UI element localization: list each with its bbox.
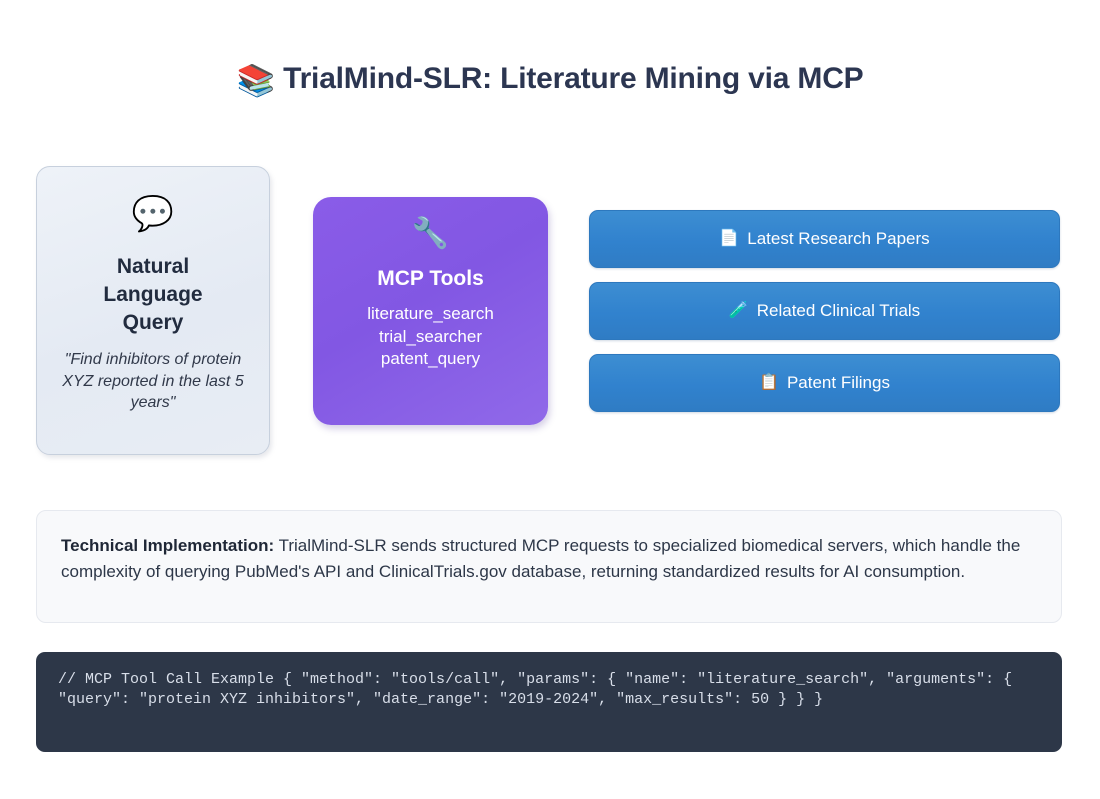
technical-note-text: Technical Implementation: TrialMind-SLR … [61,533,1037,586]
mcp-tool-item: literature_search [367,303,494,326]
technical-note-label: Technical Implementation: [61,536,274,555]
technical-implementation-note: Technical Implementation: TrialMind-SLR … [36,510,1062,623]
document-icon: 📄 [719,231,739,247]
latest-research-papers-label: Latest Research Papers [747,229,929,249]
natural-language-query-card: 💬 Natural Language Query "Find inhibitor… [36,166,270,455]
mcp-tool-item: patent_query [367,348,494,371]
code-block-text: // MCP Tool Call Example { "method": "to… [58,670,1040,711]
page-title: 📚TrialMind-SLR: Literature Mining via MC… [0,62,1100,99]
page-title-text: TrialMind-SLR: Literature Mining via MCP [283,62,863,95]
books-icon: 📚 [237,63,276,98]
mcp-tool-item: trial_searcher [367,326,494,349]
related-clinical-trials-button[interactable]: 🧪 Related Clinical Trials [589,282,1060,340]
speech-balloon-icon: 💬 [132,197,174,239]
related-clinical-trials-label: Related Clinical Trials [757,301,920,321]
flow-row: 💬 Natural Language Query "Find inhibitor… [36,166,1062,458]
code-block: // MCP Tool Call Example { "method": "to… [36,652,1062,752]
patent-filings-label: Patent Filings [787,373,890,393]
infographic-page: 📚TrialMind-SLR: Literature Mining via MC… [0,0,1100,799]
wrench-icon: 🔧 [412,219,449,265]
result-buttons: 📄 Latest Research Papers 🧪 Related Clini… [589,210,1060,412]
patent-filings-button[interactable]: 📋 Patent Filings [589,354,1060,412]
query-card-example: "Find inhibitors of protein XYZ reported… [58,349,248,414]
test-tube-icon: 🧪 [729,303,749,319]
mcp-tools-list: literature_search trial_searcher patent_… [367,303,494,371]
mcp-tools-title: MCP Tools [377,267,484,291]
mcp-tools-card: 🔧 MCP Tools literature_search trial_sear… [313,197,548,425]
query-card-title: Natural Language Query [78,253,228,337]
latest-research-papers-button[interactable]: 📄 Latest Research Papers [589,210,1060,268]
clipboard-icon: 📋 [759,375,779,391]
